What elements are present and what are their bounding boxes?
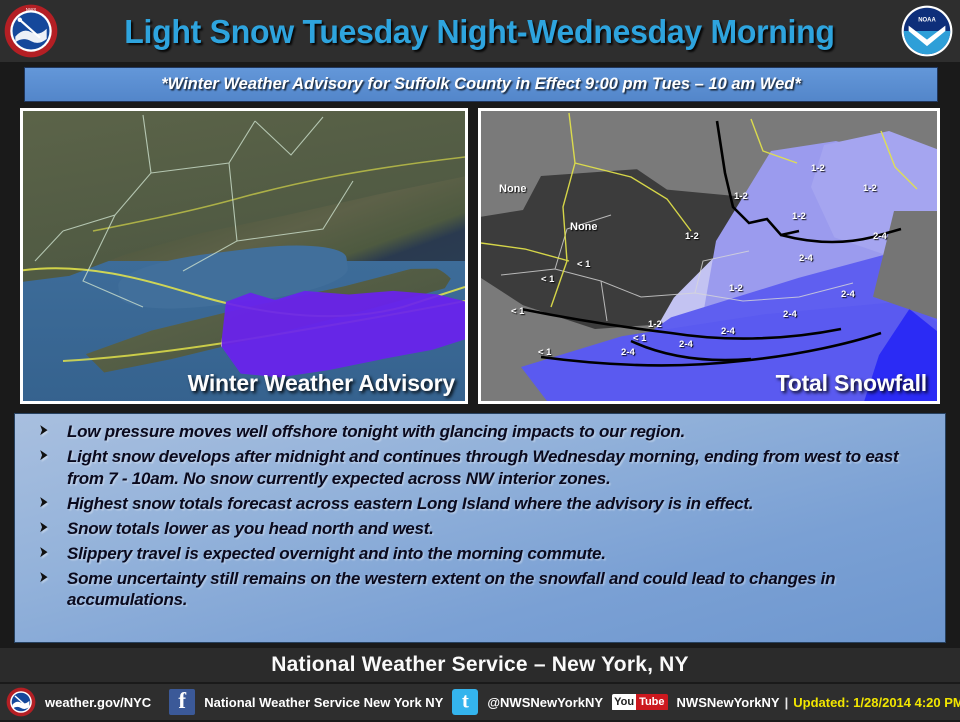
snowfall-label: 1-2 bbox=[811, 163, 825, 174]
maps-row: Winter Weather Advisory bbox=[0, 104, 960, 408]
snowfall-label: < 1 bbox=[577, 259, 590, 270]
advisory-subtitle-text: *Winter Weather Advisory for Suffolk Cou… bbox=[161, 75, 801, 94]
bullet-list: Low pressure moves well offshore tonight… bbox=[33, 421, 929, 611]
bullet-item: Light snow develops after midnight and c… bbox=[33, 446, 929, 490]
youtube-icon-tube: Tube bbox=[636, 694, 667, 710]
subtitle-bar-wrap: *Winter Weather Advisory for Suffolk Cou… bbox=[0, 62, 960, 104]
weather-graphic: NWS Light Snow Tuesday Night-Wednesday M… bbox=[0, 0, 960, 720]
snowfall-label: 2-4 bbox=[679, 339, 693, 350]
page-title: Light Snow Tuesday Night-Wednesday Morni… bbox=[72, 15, 888, 48]
total-snowfall-map[interactable]: NoneNone< 1< 11-2< 1< 1< 11-21-21-21-21-… bbox=[478, 108, 940, 404]
footer-youtube-name[interactable]: NWSNewYorkNY bbox=[677, 695, 780, 710]
snowfall-label: 1-2 bbox=[734, 191, 748, 202]
bullet-item: Snow totals lower as you head north and … bbox=[33, 518, 929, 540]
twitter-icon[interactable] bbox=[452, 689, 478, 715]
noaa-seal-logo: NOAA bbox=[900, 4, 954, 58]
footer-twitter-handle[interactable]: @NWSNewYorkNY bbox=[487, 695, 603, 710]
bullet-item: Highest snow totals forecast across east… bbox=[33, 493, 929, 515]
bullet-item: Slippery travel is expected overnight an… bbox=[33, 543, 929, 565]
snowfall-label: 2-4 bbox=[783, 309, 797, 320]
footer-facebook-name[interactable]: National Weather Service New York NY bbox=[204, 695, 443, 710]
winter-weather-advisory-map[interactable]: Winter Weather Advisory bbox=[20, 108, 468, 404]
svg-text:NOAA: NOAA bbox=[918, 17, 936, 23]
snowfall-label: 1-2 bbox=[792, 211, 806, 222]
discussion-panel: Low pressure moves well offshore tonight… bbox=[0, 408, 960, 648]
header-bar: NWS Light Snow Tuesday Night-Wednesday M… bbox=[0, 0, 960, 62]
footer-website[interactable]: weather.gov/NYC bbox=[45, 695, 151, 710]
right-map-caption: Total Snowfall bbox=[776, 370, 927, 397]
footer-bar: weather.gov/NYC National Weather Service… bbox=[0, 682, 960, 720]
snowfall-label: 1-2 bbox=[729, 283, 743, 294]
snowfall-label: 1-2 bbox=[863, 183, 877, 194]
nws-seal-logo: NWS bbox=[3, 3, 59, 59]
snowfall-label: < 1 bbox=[541, 274, 554, 285]
facebook-icon[interactable] bbox=[169, 689, 195, 715]
snowfall-label: 2-4 bbox=[621, 347, 635, 358]
snowfall-label: None bbox=[570, 221, 598, 233]
snowfall-label: < 1 bbox=[538, 347, 551, 358]
left-map-caption: Winter Weather Advisory bbox=[188, 370, 455, 397]
snowfall-label: 1-2 bbox=[685, 231, 699, 242]
office-banner: National Weather Service – New York, NY bbox=[0, 648, 960, 682]
advisory-subtitle-bar: *Winter Weather Advisory for Suffolk Cou… bbox=[24, 67, 938, 102]
youtube-icon-you: You bbox=[612, 694, 636, 710]
snowfall-label: 2-4 bbox=[721, 326, 735, 337]
footer-updated-timestamp: Updated: 1/28/2014 4:20 PM bbox=[793, 695, 960, 710]
snowfall-label: 2-4 bbox=[841, 289, 855, 300]
bullet-item: Low pressure moves well offshore tonight… bbox=[33, 421, 929, 443]
office-banner-text: National Weather Service – New York, NY bbox=[271, 653, 688, 677]
bullet-item: Some uncertainty still remains on the we… bbox=[33, 568, 929, 612]
svg-text:NWS: NWS bbox=[26, 7, 36, 12]
snowfall-label: < 1 bbox=[633, 333, 646, 344]
snowfall-label: 2-4 bbox=[873, 231, 887, 242]
snowfall-label: 1-2 bbox=[648, 319, 662, 330]
snowfall-label: None bbox=[499, 183, 527, 195]
snowfall-label: 2-4 bbox=[799, 253, 813, 264]
nws-seal-icon bbox=[6, 687, 36, 717]
youtube-icon[interactable]: YouTube bbox=[612, 694, 667, 711]
snowfall-label: < 1 bbox=[511, 306, 524, 317]
footer-separator: | bbox=[780, 695, 794, 710]
